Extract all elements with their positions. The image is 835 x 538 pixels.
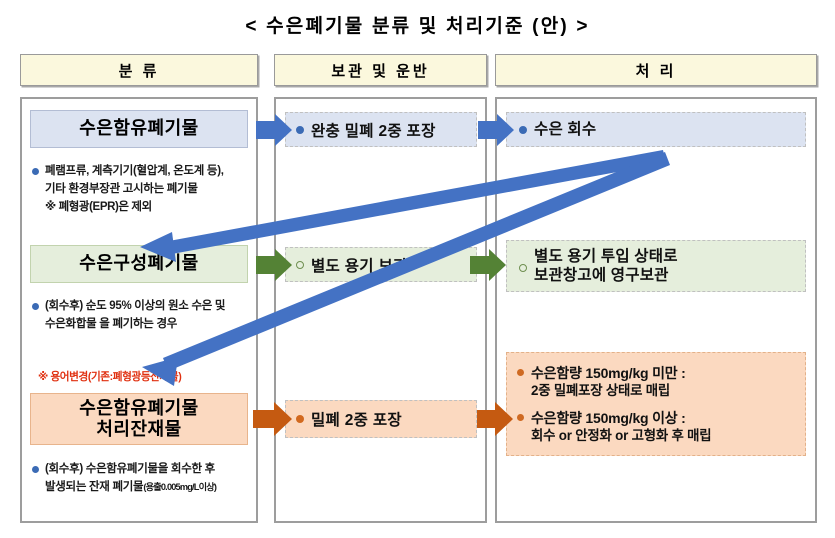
bullet-dot-icon <box>519 126 527 134</box>
note-line-1: (회수후) 순도 95% 이상의 원소 수은 및 <box>45 298 225 316</box>
category-box-mercury-containing-waste[interactable]: 수은함유폐기물 <box>30 110 248 148</box>
category-box-mercury-residue-waste[interactable]: 수은함유폐기물 처리잔재물 <box>30 393 248 445</box>
treatment-label: 수은 회수 <box>534 120 596 139</box>
storage-box-buffer-double-seal-packaging[interactable]: 완충 밀폐 2중 포장 <box>285 112 477 147</box>
note-exclusion: ※ 폐형광(EPR)은 제외 <box>45 199 224 217</box>
storage-label: 별도 용기 보관 <box>311 254 408 276</box>
category-label: 수은구성폐기물 <box>31 253 247 274</box>
panel-treatment <box>495 97 817 523</box>
column-header-classification: 분 류 <box>20 54 258 86</box>
criteria-line-1: 수은함량 150mg/kg 이상 : <box>531 410 686 426</box>
storage-label: 밀폐 2중 포장 <box>311 408 402 430</box>
bullet-ring-icon <box>519 264 527 272</box>
landfill-criteria-list: 수은함량 150mg/kg 미만 : 2중 밀폐포장 상태로 매립 수은함량 1… <box>517 364 805 444</box>
term-change-note: ※ 용어변경(기존:폐형광등잔재물) <box>38 369 181 384</box>
treatment-label: 별도 용기 투입 상태로 보관창고에 영구보관 <box>534 247 678 286</box>
category-label: 수은함유폐기물 <box>31 118 247 139</box>
storage-box-double-seal-packaging[interactable]: 밀폐 2중 포장 <box>285 400 477 438</box>
criteria-line-2: 2중 밀폐포장 상태로 매립 <box>531 382 686 399</box>
note-line-1: 폐램프류, 계측기기(혈압계, 온도계 등), <box>45 163 224 181</box>
category-label-line-2: 처리잔재물 <box>96 419 181 439</box>
bullet-ring-icon <box>296 261 304 269</box>
treatment-box-mercury-recovery[interactable]: 수은 회수 <box>506 112 806 147</box>
panel-storage-transport <box>274 97 487 523</box>
category-label: 수은함유폐기물 처리잔재물 <box>31 398 247 440</box>
criteria-line-1: 수은함량 150mg/kg 미만 : <box>531 365 686 381</box>
bullet-dot-icon <box>32 168 39 175</box>
note-line-2: 수은화합물 을 폐기하는 경우 <box>45 316 225 334</box>
treatment-label-line-2: 보관창고에 영구보관 <box>534 267 669 284</box>
note-line-2: 기타 환경부장관 고시하는 폐기물 <box>45 181 224 199</box>
classification-note-mercury-residue: (회수후) 수은함유폐기물을 회수한 후 발생되는 잔재 폐기물(용출0.005… <box>32 461 252 497</box>
classification-note-mercury-component: (회수후) 순도 95% 이상의 원소 수은 및 수은화합물 을 폐기하는 경우 <box>32 298 248 334</box>
category-label-line-1: 수은함유폐기물 <box>79 398 198 418</box>
treatment-box-landfill-criteria[interactable]: 수은함량 150mg/kg 미만 : 2중 밀폐포장 상태로 매립 수은함량 1… <box>506 352 806 456</box>
note-leachate-value: (용출0.005mg/L이상) <box>143 482 216 492</box>
list-item: 수은함량 150mg/kg 미만 : 2중 밀폐포장 상태로 매립 <box>517 364 805 400</box>
bullet-dot-icon <box>32 303 39 310</box>
note-line-1: (회수후) 수은함유폐기물을 회수한 후 <box>45 461 216 479</box>
classification-note-mercury-containing: 폐램프류, 계측기기(혈압계, 온도계 등), 기타 환경부장관 고시하는 폐기… <box>32 163 248 216</box>
list-item: 수은함량 150mg/kg 이상 : 회수 or 안정화 or 고형화 후 매립 <box>517 409 805 445</box>
column-header-storage-transport: 보관 및 운반 <box>274 54 487 86</box>
note-line-2: 발생되는 잔재 폐기물(용출0.005mg/L이상) <box>45 479 216 497</box>
bullet-dot-icon <box>32 466 39 473</box>
page-title: < 수은폐기물 분류 및 처리기준 (안) > <box>0 11 835 38</box>
diagram-root: < 수은폐기물 분류 및 처리기준 (안) > 분 류 보관 및 운반 처 리 … <box>0 0 835 538</box>
storage-label: 완충 밀폐 2중 포장 <box>311 119 436 141</box>
treatment-label-line-1: 별도 용기 투입 상태로 <box>534 248 678 265</box>
bullet-dot-icon <box>296 415 304 423</box>
column-header-treatment: 처 리 <box>495 54 817 86</box>
treatment-box-permanent-storage[interactable]: 별도 용기 투입 상태로 보관창고에 영구보관 <box>506 240 806 292</box>
bullet-dot-icon <box>517 414 524 421</box>
bullet-dot-icon <box>296 126 304 134</box>
category-box-mercury-component-waste[interactable]: 수은구성폐기물 <box>30 245 248 283</box>
criteria-line-2: 회수 or 안정화 or 고형화 후 매립 <box>531 427 711 444</box>
bullet-dot-icon <box>517 369 524 376</box>
storage-box-separate-container[interactable]: 별도 용기 보관 <box>285 247 477 282</box>
